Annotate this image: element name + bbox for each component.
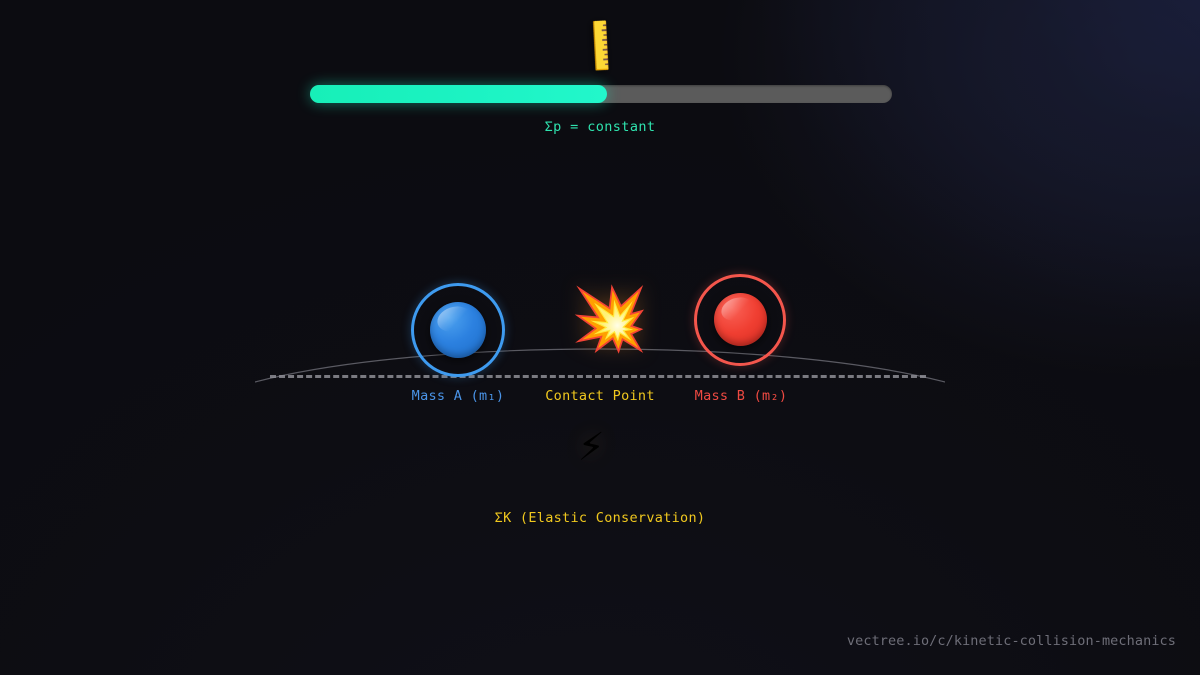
collision-baseline [270,375,926,378]
progress-bar-track[interactable] [310,85,892,103]
footer: Vectree Conservation of momentum and kin… [0,535,1200,675]
straight-ruler-icon: 📏 [568,14,632,77]
contact-point-label: Contact Point [520,388,680,404]
mass-a-ball[interactable] [430,302,486,358]
progress-bar-fill [310,85,607,103]
mass-b-label: Mass B (m₂) [661,388,821,404]
high-voltage-icon: ⚡ [578,424,605,468]
kinetic-energy-label: ΣK (Elastic Conservation) [0,510,1200,526]
mass-b-ball[interactable] [714,293,767,346]
momentum-caption: Σp = constant [0,119,1200,135]
collision-icon: 💥 [571,288,648,350]
mass-a-label: Mass A (m₁) [378,388,538,404]
slide-canvas: 📏 Σp = constant 💥 Mass A (m₁) Contact Po… [0,0,1200,675]
source-url: vectree.io/c/kinetic-collision-mechanics [847,633,1176,649]
